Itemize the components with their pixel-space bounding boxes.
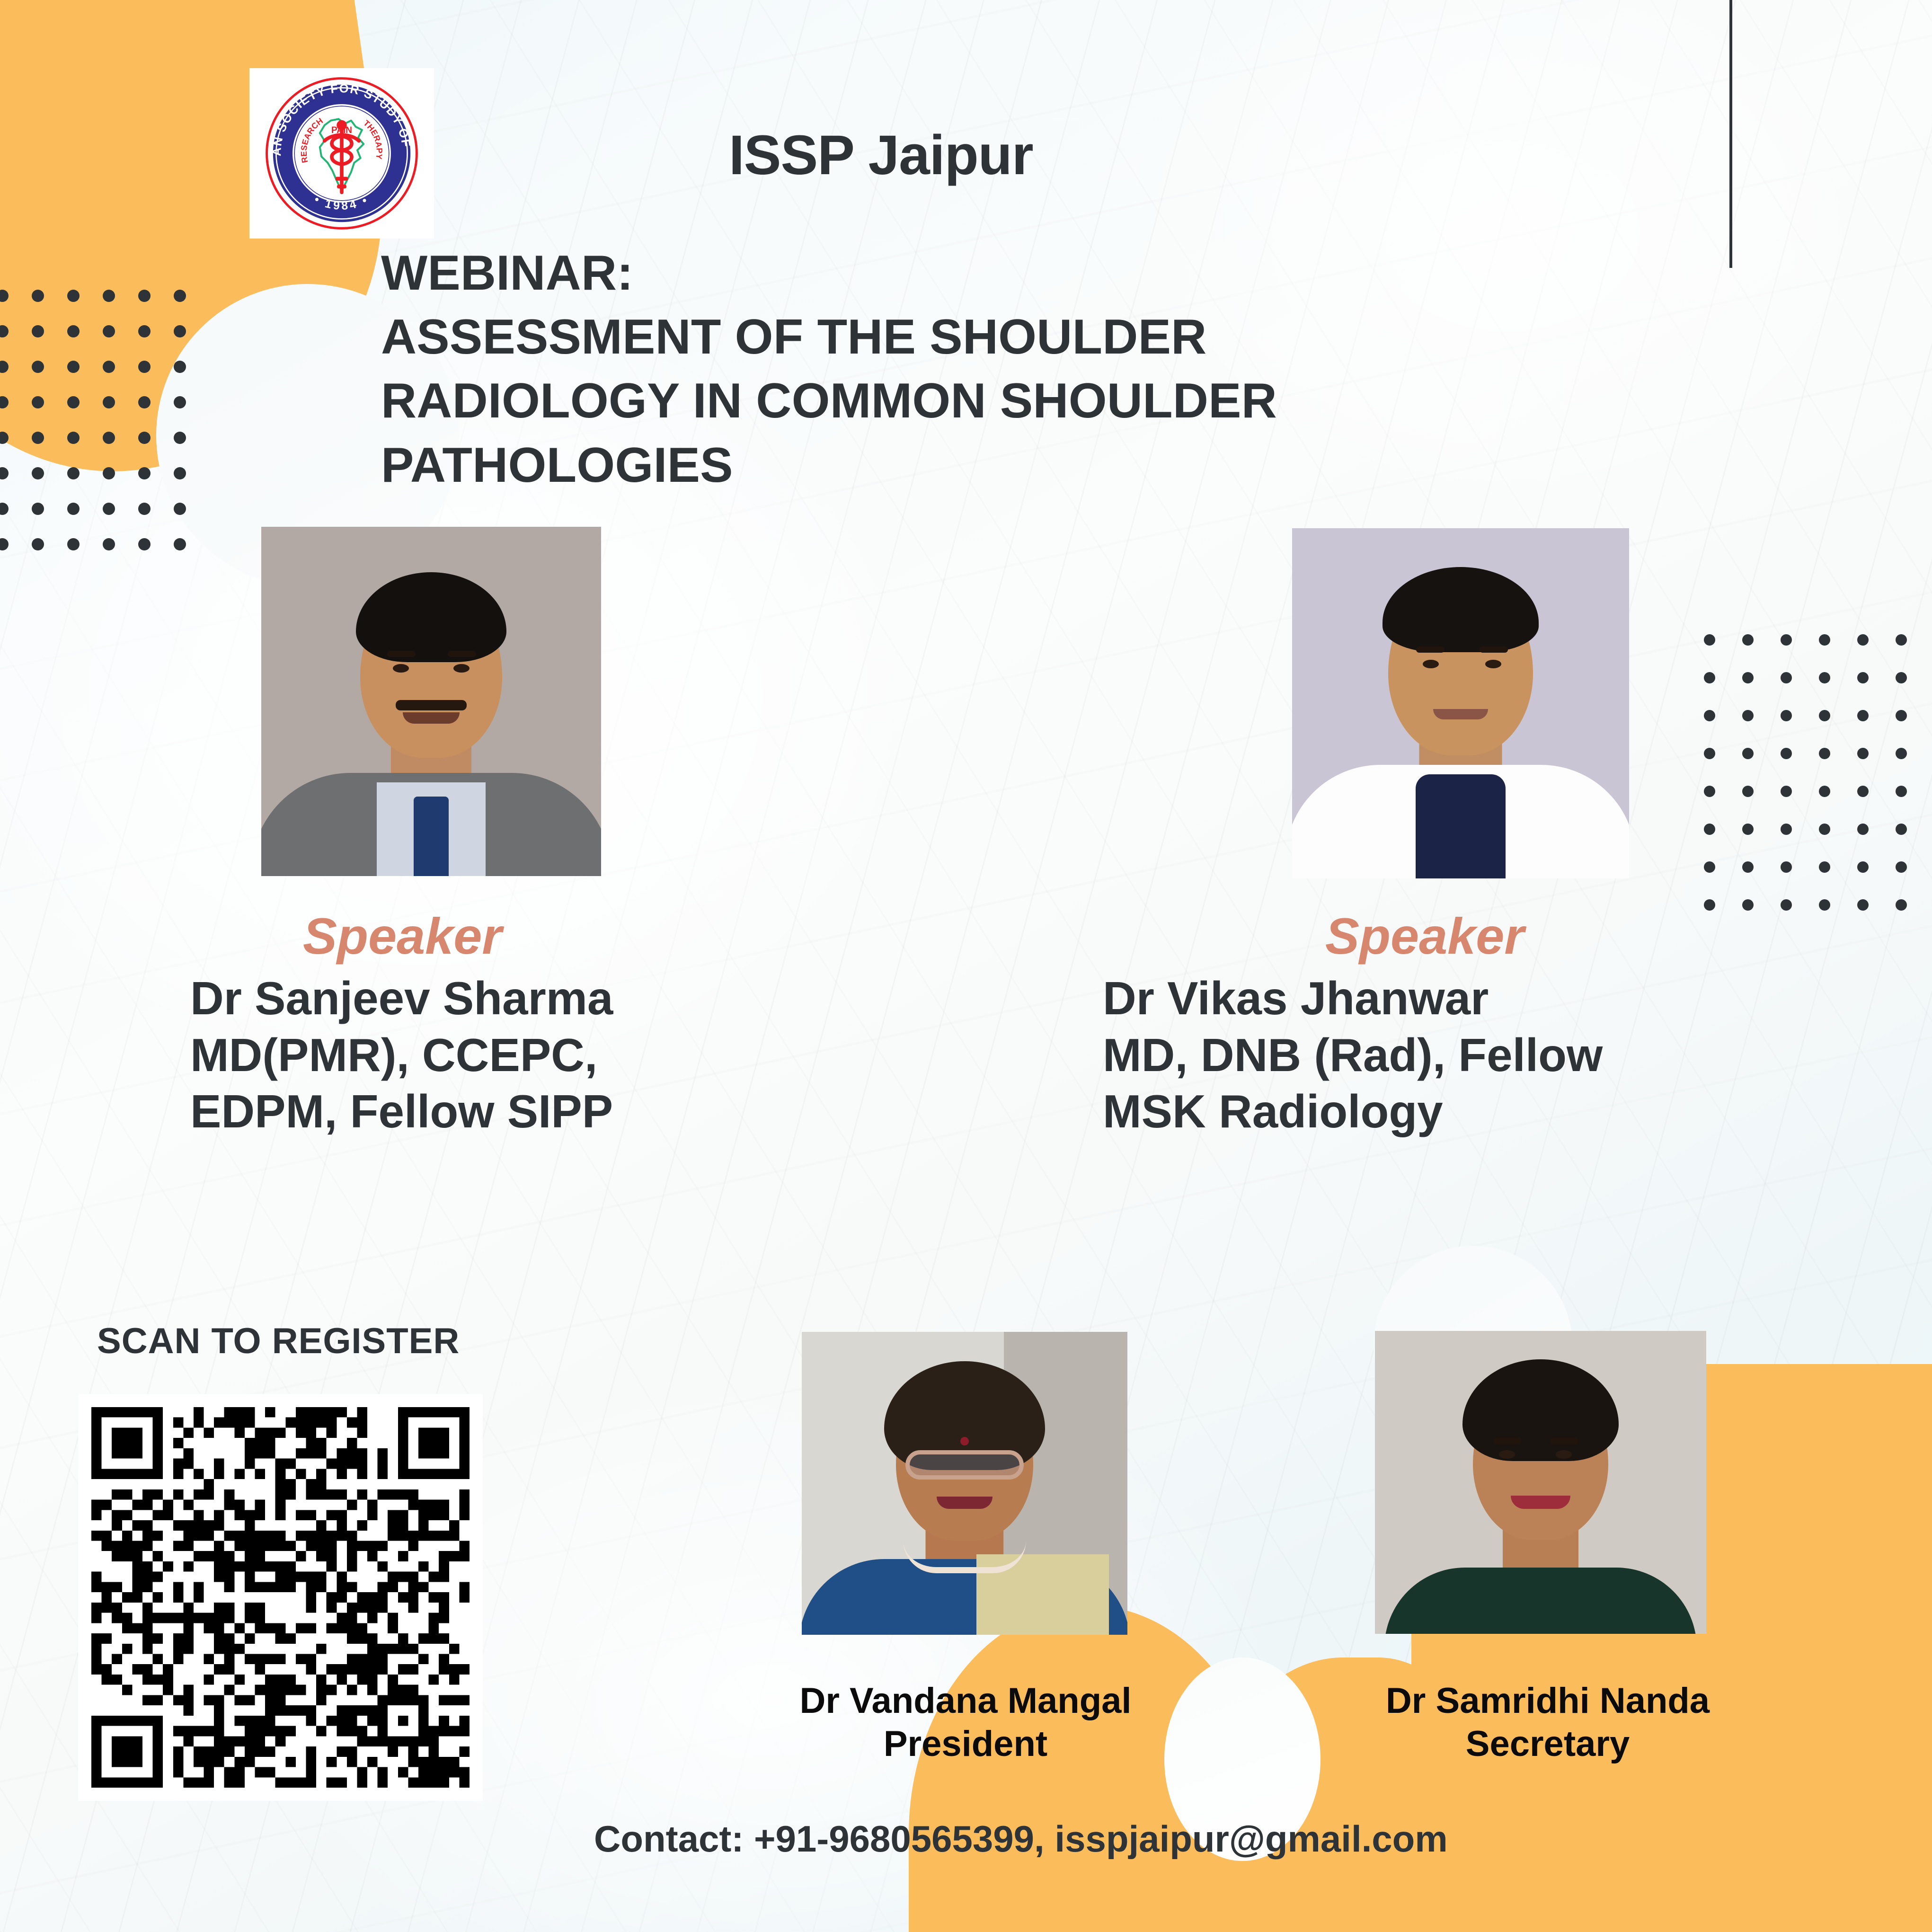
dot <box>138 396 151 408</box>
dot <box>1896 899 1907 911</box>
dot-row <box>0 361 209 396</box>
dot-row <box>0 290 209 325</box>
portrait-samridhi-nanda <box>1375 1331 1706 1634</box>
speaker-2-photo <box>1292 528 1629 878</box>
dot <box>67 361 80 373</box>
dot <box>1742 899 1754 911</box>
dot <box>103 467 115 479</box>
dot <box>138 538 151 550</box>
dot-row <box>0 432 209 467</box>
dot <box>103 432 115 444</box>
dot <box>1781 748 1792 759</box>
dot <box>0 290 9 302</box>
dot-row <box>1704 861 1932 899</box>
dot <box>103 503 115 515</box>
dot <box>1704 672 1715 683</box>
dot <box>138 325 151 337</box>
dot <box>1896 672 1907 683</box>
dot <box>138 503 151 515</box>
dot <box>1742 672 1754 683</box>
dot <box>174 396 186 408</box>
dot <box>0 467 9 479</box>
dot <box>1704 824 1715 835</box>
dot <box>103 325 115 337</box>
issp-logo: INDIAN SOCIETY FOR STUDY OF PAIN • 1984 … <box>249 68 434 239</box>
dot-row <box>1704 710 1932 748</box>
qr-code-canvas[interactable] <box>91 1407 470 1788</box>
dot-grid-right <box>1704 634 1932 937</box>
dot <box>32 325 44 337</box>
speaker-2-role-label: Speaker <box>1325 906 1524 966</box>
dot <box>1742 824 1754 835</box>
dot-row <box>1704 634 1932 672</box>
dot <box>174 290 186 302</box>
dot <box>1819 824 1830 835</box>
dot <box>1704 748 1715 759</box>
dot <box>1896 786 1907 797</box>
dot <box>32 396 44 408</box>
dot <box>1781 824 1792 835</box>
dot <box>0 396 9 408</box>
dot <box>1896 748 1907 759</box>
dot-row <box>0 396 209 432</box>
dot <box>1819 899 1830 911</box>
dot <box>1781 672 1792 683</box>
officer-2-designation: Secretary <box>1335 1722 1761 1765</box>
dot <box>1819 861 1830 873</box>
speaker-1-details: Dr Sanjeev Sharma MD(PMR), CCEPC, EDPM, … <box>190 970 613 1140</box>
dot-row <box>1704 748 1932 786</box>
dot <box>138 432 151 444</box>
dot <box>1896 710 1907 721</box>
dot <box>67 503 80 515</box>
dot <box>1819 710 1830 721</box>
dot <box>0 503 9 515</box>
speaker-2-details: Dr Vikas Jhanwar MD, DNB (Rad), Fellow M… <box>1103 970 1603 1140</box>
speaker-2-name: Dr Vikas Jhanwar <box>1103 970 1603 1027</box>
dot-grid-left <box>0 290 209 574</box>
officer-1-photo <box>802 1332 1127 1635</box>
dot-row <box>0 503 209 538</box>
dot <box>1781 786 1792 797</box>
speaker-2-credentials-line-1: MD, DNB (Rad), Fellow <box>1103 1027 1603 1084</box>
dot <box>174 432 186 444</box>
webinar-title: WEBINAR: ASSESSMENT OF THE SHOULDER RADI… <box>381 241 1564 497</box>
dot <box>32 432 44 444</box>
dot <box>103 290 115 302</box>
portrait-vandana-mangal <box>802 1332 1127 1635</box>
dot <box>1857 824 1869 835</box>
dot <box>1896 634 1907 646</box>
webinar-poster: INDIAN SOCIETY FOR STUDY OF PAIN • 1984 … <box>0 0 1932 1932</box>
dot <box>103 396 115 408</box>
dot <box>1819 634 1830 646</box>
webinar-title-line-3: RADIOLOGY IN COMMON SHOULDER <box>381 369 1564 433</box>
speaker-1-photo <box>261 527 601 876</box>
dot <box>1857 786 1869 797</box>
webinar-title-line-2: ASSESSMENT OF THE SHOULDER <box>381 305 1564 369</box>
dot-row <box>1704 824 1932 861</box>
portrait-sanjeev-sharma <box>261 527 601 876</box>
dot <box>1819 672 1830 683</box>
dot <box>1781 899 1792 911</box>
dot <box>1857 899 1869 911</box>
officer-1-details: Dr Vandana Mangal President <box>753 1679 1179 1765</box>
officer-1-designation: President <box>753 1722 1179 1765</box>
dot <box>1742 634 1754 646</box>
dot <box>1819 786 1830 797</box>
dot <box>0 325 9 337</box>
dot <box>32 361 44 373</box>
dot <box>1781 710 1792 721</box>
speaker-1-name: Dr Sanjeev Sharma <box>190 970 613 1027</box>
dot <box>1857 634 1869 646</box>
portrait-vikas-jhanwar <box>1292 528 1629 878</box>
dot <box>0 538 9 550</box>
dot <box>1704 710 1715 721</box>
dot <box>174 503 186 515</box>
dot <box>67 325 80 337</box>
dot <box>138 290 151 302</box>
dot <box>32 538 44 550</box>
dot <box>1781 634 1792 646</box>
dot <box>32 503 44 515</box>
dot <box>1704 861 1715 873</box>
speaker-1-credentials-line-2: EDPM, Fellow SIPP <box>190 1083 613 1140</box>
officer-2-details: Dr Samridhi Nanda Secretary <box>1335 1679 1761 1765</box>
dot <box>1781 861 1792 873</box>
dot-row <box>0 467 209 503</box>
dot-row <box>1704 899 1932 937</box>
dot <box>67 467 80 479</box>
dot <box>1896 861 1907 873</box>
dot <box>32 290 44 302</box>
dot <box>67 396 80 408</box>
speaker-1-role-label: Speaker <box>303 906 502 966</box>
dot <box>67 538 80 550</box>
dot <box>1896 824 1907 835</box>
dot <box>1704 786 1715 797</box>
dot <box>0 361 9 373</box>
dot <box>1819 748 1830 759</box>
webinar-title-line-1: WEBINAR: <box>381 241 1564 305</box>
dot <box>1857 710 1869 721</box>
speaker-1-credentials-line-1: MD(PMR), CCEPC, <box>190 1027 613 1084</box>
dot <box>138 467 151 479</box>
dot <box>1857 748 1869 759</box>
webinar-title-line-4: PATHOLOGIES <box>381 434 1564 497</box>
organization-title: ISSP Jaipur <box>729 123 1033 187</box>
issp-logo-icon: INDIAN SOCIETY FOR STUDY OF PAIN • 1984 … <box>264 75 420 231</box>
dot-row <box>0 538 209 574</box>
dot <box>138 361 151 373</box>
dot <box>174 538 186 550</box>
dot <box>67 432 80 444</box>
contact-line[interactable]: Contact: +91-9680565399, isspjaipur@gmai… <box>594 1817 1448 1861</box>
officer-2-name: Dr Samridhi Nanda <box>1335 1679 1761 1722</box>
dot <box>103 538 115 550</box>
dot-row <box>1704 786 1932 824</box>
dot <box>1742 710 1754 721</box>
svg-text:PAIN: PAIN <box>331 125 352 135</box>
vertical-rule-top-right <box>1729 0 1732 268</box>
dot <box>1742 748 1754 759</box>
dot <box>174 325 186 337</box>
dot <box>1742 861 1754 873</box>
dot <box>1704 899 1715 911</box>
dot <box>32 467 44 479</box>
officer-1-name: Dr Vandana Mangal <box>753 1679 1179 1722</box>
dot <box>0 432 9 444</box>
dot <box>67 290 80 302</box>
dot <box>1742 786 1754 797</box>
dot <box>174 361 186 373</box>
scan-to-register-label: SCAN TO REGISTER <box>97 1320 460 1362</box>
dot <box>1704 634 1715 646</box>
dot <box>1857 672 1869 683</box>
dot <box>1857 861 1869 873</box>
dot-row <box>1704 672 1932 710</box>
registration-qr-code[interactable] <box>78 1394 483 1801</box>
dot <box>103 361 115 373</box>
officer-2-photo <box>1375 1331 1706 1634</box>
dot <box>174 467 186 479</box>
speaker-2-credentials-line-2: MSK Radiology <box>1103 1083 1603 1140</box>
dot-row <box>0 325 209 361</box>
